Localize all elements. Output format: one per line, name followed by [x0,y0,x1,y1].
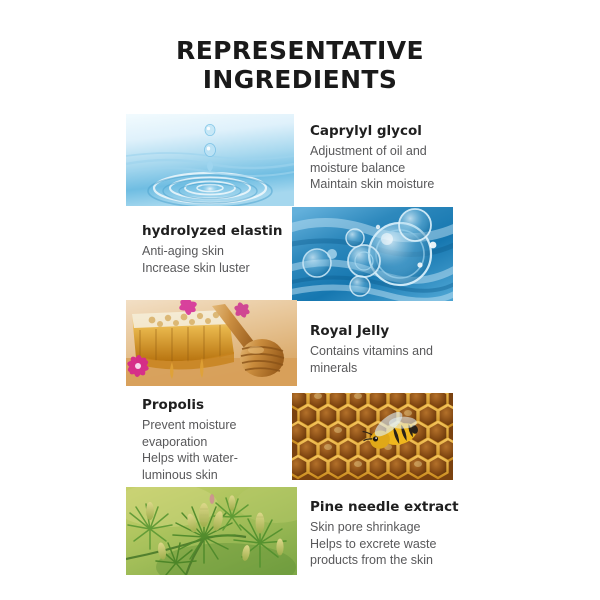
honeycomb-dipper-illustration [126,300,297,386]
description-line: Adjustment of oil and [310,143,480,160]
pine-needle-branch-photo [126,487,297,575]
description-line: evaporation [142,434,302,451]
ingredient-text-pine-needle-extract: Pine needle extract Skin pore shrinkage … [310,498,485,569]
ingredient-name: Pine needle extract [310,498,485,517]
honeycomb-dipper-photo [126,300,297,386]
ingredient-description: Adjustment of oil and moisture balance M… [310,143,480,193]
ingredient-description: Skin pore shrinkage Helps to excrete was… [310,519,485,569]
description-line: products from the skin [310,552,485,569]
ingredient-name: Royal Jelly [310,322,480,341]
bee-on-honeycomb-illustration [292,393,453,480]
description-line: Skin pore shrinkage [310,519,485,536]
ingredient-name: hydrolyzed elastin [142,222,302,241]
page-title-line-1: REPRESENTATIVE [0,36,600,65]
page-title: REPRESENTATIVE INGREDIENTS [0,36,600,94]
ingredient-text-hydrolyzed-elastin: hydrolyzed elastin Anti-aging skin Incre… [142,222,302,276]
water-droplet-ripple-illustration [126,114,294,206]
description-line: Helps to excrete waste [310,536,485,553]
description-line: Helps with water- [142,450,302,467]
description-line: Prevent moisture [142,417,302,434]
description-line: luminous skin [142,467,302,484]
water-bubbles-photo [292,207,453,301]
pine-needle-branch-illustration [126,487,297,575]
description-line: Anti-aging skin [142,243,302,260]
description-line: Contains vitamins and [310,343,480,360]
ingredients-infographic: REPRESENTATIVE INGREDIENTS [0,0,600,600]
description-line: minerals [310,360,480,377]
bee-on-honeycomb-photo [292,393,453,480]
ingredient-text-caprylyl-glycol: Caprylyl glycol Adjustment of oil and mo… [310,122,480,193]
ingredient-name: Propolis [142,396,302,415]
description-line: Increase skin luster [142,260,302,277]
ingredient-name: Caprylyl glycol [310,122,480,141]
description-line: moisture balance [310,160,480,177]
ingredient-text-royal-jelly: Royal Jelly Contains vitamins and minera… [310,322,480,376]
ingredient-text-propolis: Propolis Prevent moisture evaporation He… [142,396,302,483]
ingredient-description: Anti-aging skin Increase skin luster [142,243,302,276]
water-bubbles-illustration [292,207,453,301]
ingredient-description: Prevent moisture evaporation Helps with … [142,417,302,483]
page-title-line-2: INGREDIENTS [0,65,600,94]
description-line: Maintain skin moisture [310,176,480,193]
water-droplet-ripple-photo [126,114,294,206]
ingredient-description: Contains vitamins and minerals [310,343,480,376]
